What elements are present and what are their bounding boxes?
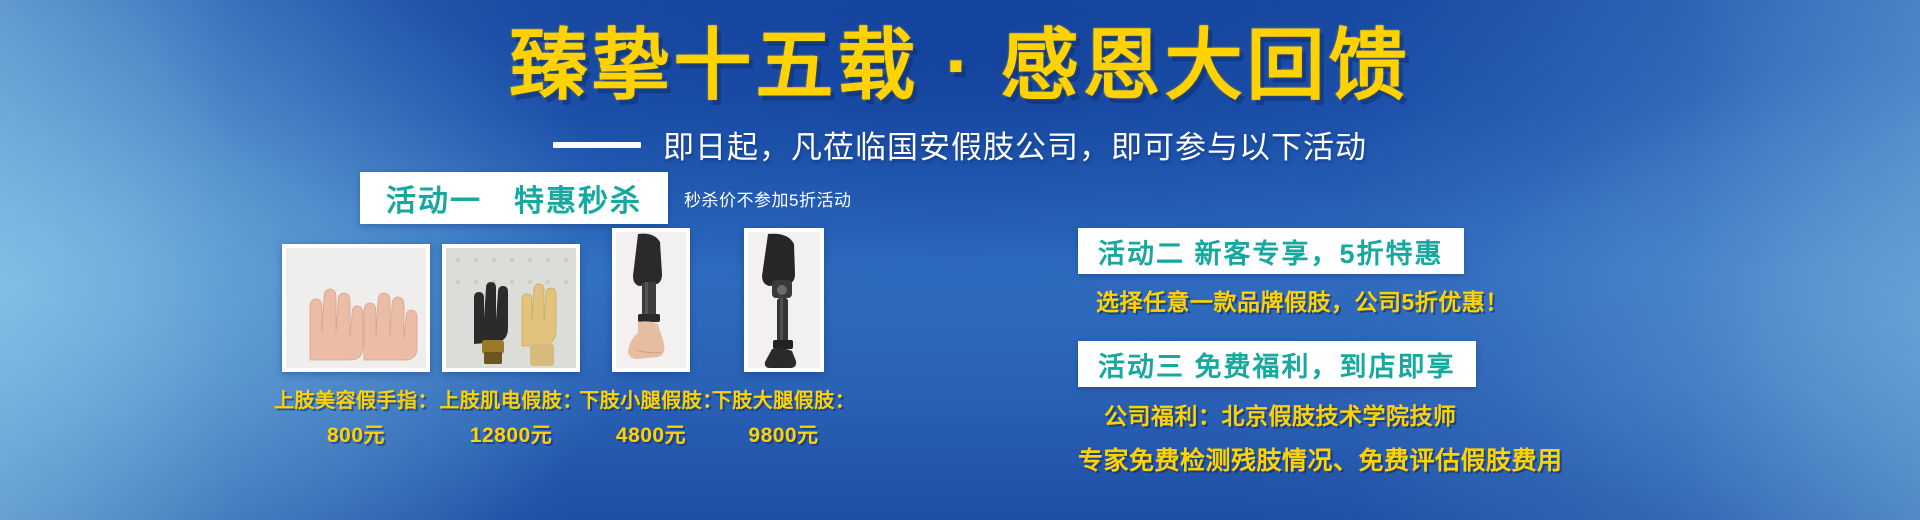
list-item[interactable]: 上肢美容假手指： 800元	[276, 244, 436, 449]
activity-one-note: 秒杀价不参加5折活动	[684, 186, 851, 211]
subtitle-row: 即日起，凡莅临国安假肢公司，即可参与以下活动	[0, 122, 1920, 167]
promo-banner: 臻挚十五载 · 感恩大回馈 即日起，凡莅临国安假肢公司，即可参与以下活动 活动一…	[0, 0, 1920, 520]
subtitle-dash-divider	[553, 142, 641, 148]
below-knee-leg-photo	[616, 232, 686, 368]
myoelectric-hand-photo	[446, 248, 576, 368]
activity-three-label: 活动三 免费福利，到店即享	[1098, 345, 1456, 384]
product-price: 800元	[327, 419, 385, 449]
subtitle-text: 即日起，凡莅临国安假肢公司，即可参与以下活动	[663, 122, 1367, 167]
activity-three-badge: 活动三 免费福利，到店即享	[1078, 341, 1476, 387]
product-price: 4800元	[616, 419, 686, 449]
product-list: 上肢美容假手指： 800元	[276, 228, 851, 449]
activity-one-badge: 活动一 特惠秒杀	[360, 172, 668, 224]
page-title: 臻挚十五载 · 感恩大回馈	[0, 26, 1920, 104]
activities-right-column: 活动二 新客专享，5折特惠 选择任意一款品牌假肢，公司5折优惠！ 活动三 免费福…	[1078, 228, 1638, 477]
list-item[interactable]: 上肢肌电假肢： 12800元	[436, 244, 586, 449]
activity-two-badge: 活动二 新客专享，5折特惠	[1078, 228, 1464, 274]
product-price: 9800元	[748, 419, 818, 449]
product-photo-frame	[744, 228, 824, 372]
product-caption: 上肢美容假手指：	[274, 384, 438, 413]
product-photo-frame	[282, 244, 430, 372]
cosmetic-hand-photo	[286, 248, 426, 368]
activity-one-label: 活动一 特惠秒杀	[386, 176, 642, 220]
list-item[interactable]: 下肢小腿假肢： 4800元	[586, 228, 716, 449]
activity-three-description-line2: 专家免费检测残肢情况、免费评估假肢费用	[1078, 441, 1638, 477]
above-knee-leg-photo	[748, 232, 820, 368]
product-caption: 上肢肌电假肢：	[439, 384, 583, 413]
activity-two-description: 选择任意一款品牌假肢，公司5折优惠！	[1096, 283, 1638, 317]
product-price: 12800元	[470, 419, 552, 449]
product-caption: 下肢大腿假肢：	[712, 384, 856, 413]
activity-two-label: 活动二 新客专享，5折特惠	[1098, 232, 1444, 271]
product-photo-frame	[612, 228, 690, 372]
activity-three-description-line1: 公司福利：北京假肢技术学院技师	[1104, 397, 1638, 431]
activity-one-header-row: 活动一 特惠秒杀 秒杀价不参加5折活动	[360, 172, 851, 224]
product-photo-frame	[442, 244, 580, 372]
product-caption: 下肢小腿假肢：	[579, 384, 723, 413]
list-item[interactable]: 下肢大腿假肢： 9800元	[716, 228, 851, 449]
